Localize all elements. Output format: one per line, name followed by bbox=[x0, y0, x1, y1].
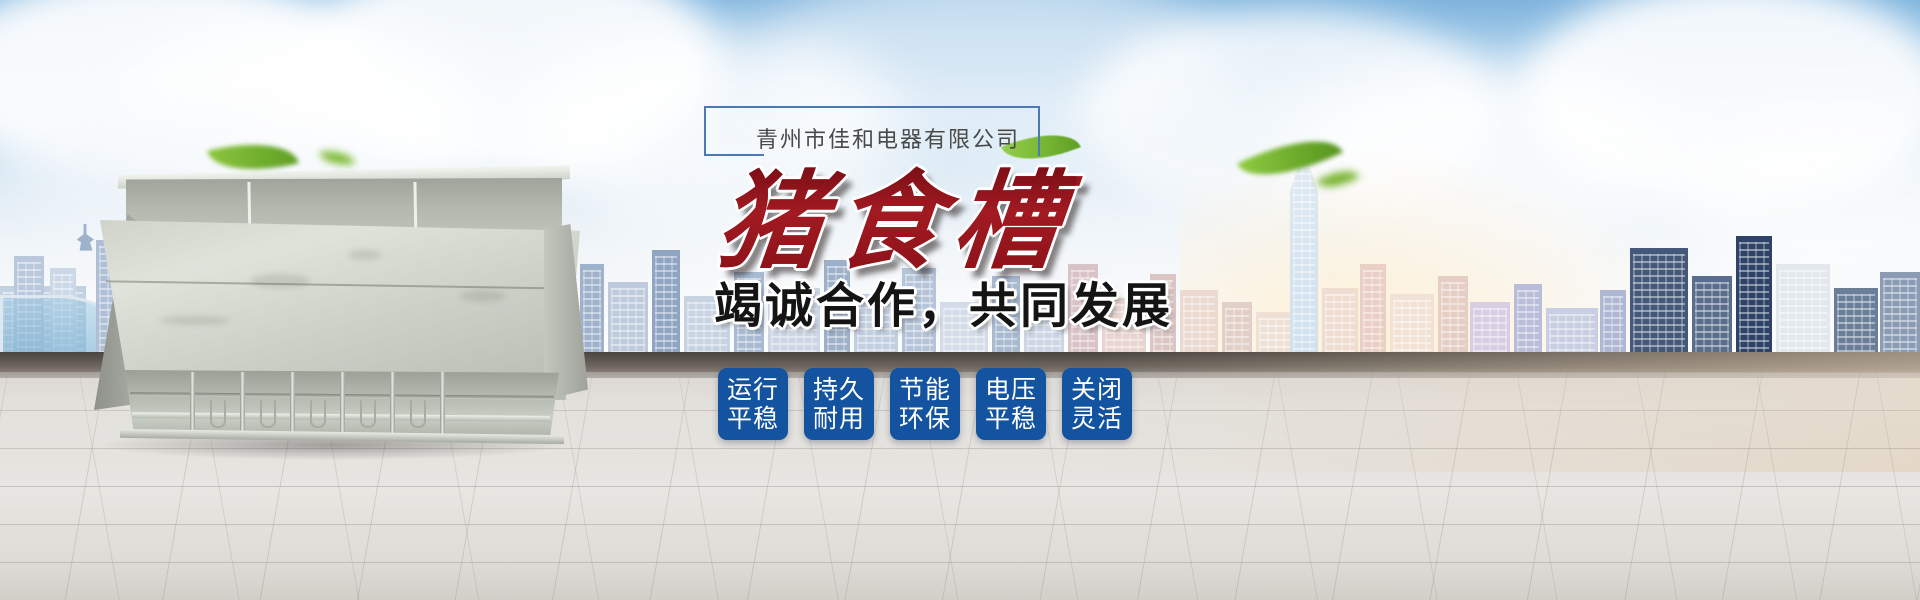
building bbox=[1834, 288, 1878, 360]
building bbox=[1390, 294, 1434, 360]
feeder-divider bbox=[290, 372, 295, 434]
building bbox=[608, 282, 648, 360]
surface-smudge bbox=[160, 316, 230, 325]
drinking-nipple bbox=[260, 400, 276, 428]
feature-badge[interactable]: 持久 耐用 bbox=[804, 368, 874, 440]
badge-line-2: 耐用 bbox=[813, 404, 865, 434]
building bbox=[1630, 248, 1688, 360]
product-image-feeder-trough bbox=[76, 162, 588, 462]
surface-smudge bbox=[348, 250, 382, 260]
promotional-banner: 青州市佳和电器有限公司 猪食槽 猪食槽 竭诚合作，共同发展 运行 平稳 持久 耐… bbox=[0, 0, 1920, 600]
page-title: 猪食槽 bbox=[712, 168, 1077, 274]
banner-text-block: 青州市佳和电器有限公司 猪食槽 猪食槽 竭诚合作，共同发展 运行 平稳 持久 耐… bbox=[700, 96, 1320, 556]
badge-line-1: 节能 bbox=[899, 375, 951, 405]
feeder-divider bbox=[190, 372, 195, 434]
building bbox=[1880, 272, 1920, 360]
drinking-nipple bbox=[410, 400, 426, 428]
building bbox=[1438, 276, 1468, 360]
badge-line-2: 灵活 bbox=[1071, 404, 1123, 434]
company-name: 青州市佳和电器有限公司 bbox=[756, 122, 1056, 154]
feeder-divider bbox=[240, 372, 245, 434]
building bbox=[1600, 290, 1626, 360]
feeder-divider bbox=[340, 372, 345, 434]
feature-badge[interactable]: 节能 环保 bbox=[890, 368, 960, 440]
badge-line-2: 平稳 bbox=[985, 404, 1037, 434]
building bbox=[1360, 264, 1386, 360]
surface-smudge bbox=[250, 274, 310, 288]
building bbox=[1736, 236, 1772, 360]
feeder-divider bbox=[390, 372, 395, 434]
badge-line-1: 关闭 bbox=[1071, 375, 1123, 405]
feature-badge-list: 运行 平稳 持久 耐用 节能 环保 电压 平稳 关闭 灵活 bbox=[718, 368, 1132, 440]
drinking-nipple bbox=[360, 400, 376, 428]
feature-badge[interactable]: 关闭 灵活 bbox=[1062, 368, 1132, 440]
drinking-nipple bbox=[210, 400, 226, 428]
building bbox=[652, 250, 680, 360]
badge-line-1: 电压 bbox=[985, 375, 1037, 405]
feeder-divider bbox=[440, 372, 445, 434]
feeder-body bbox=[76, 162, 588, 452]
drinking-nipple bbox=[310, 400, 326, 428]
building bbox=[1322, 288, 1358, 360]
badge-line-1: 持久 bbox=[813, 375, 865, 405]
feature-badge[interactable]: 运行 平稳 bbox=[718, 368, 788, 440]
badge-line-2: 环保 bbox=[899, 404, 951, 434]
building bbox=[1692, 276, 1732, 360]
surface-smudge bbox=[460, 290, 506, 302]
building bbox=[1776, 264, 1830, 360]
feature-badge[interactable]: 电压 平稳 bbox=[976, 368, 1046, 440]
badge-line-1: 运行 bbox=[727, 375, 779, 405]
badge-line-2: 平稳 bbox=[727, 404, 779, 434]
banner-subtitle: 竭诚合作，共同发展 bbox=[714, 282, 1173, 330]
building bbox=[1514, 284, 1542, 360]
